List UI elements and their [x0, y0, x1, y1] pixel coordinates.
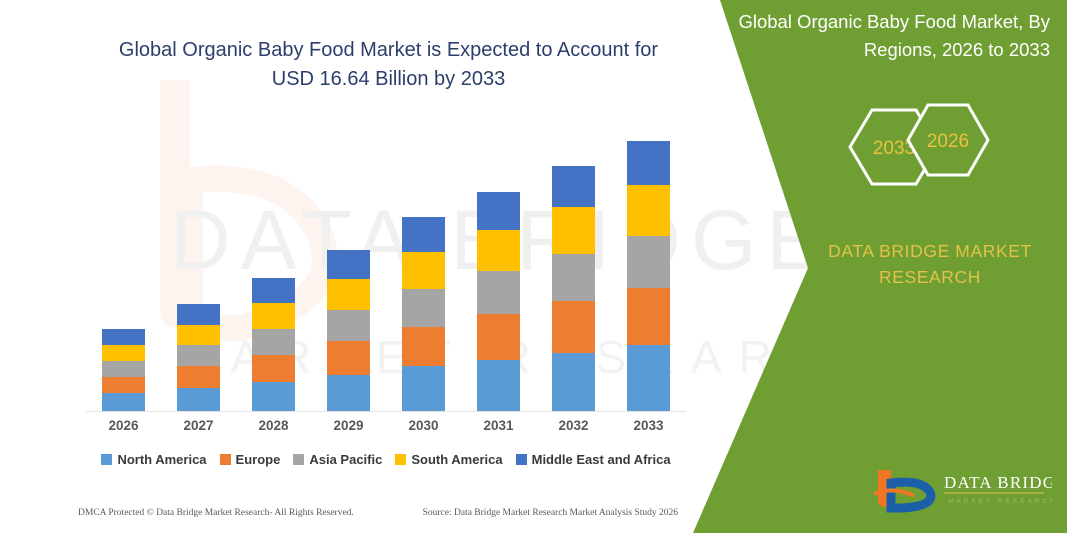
bar-segment [402, 252, 445, 289]
panel-brand-line2: RESEARCH [800, 264, 1060, 290]
bar-segment [252, 382, 295, 412]
footer-bar: DMCA Protected © Data Bridge Market Rese… [78, 508, 678, 518]
bar-segment [102, 361, 145, 377]
legend-swatch [101, 454, 112, 465]
x-axis-tick-label: 2032 [542, 418, 606, 433]
bar-segment [177, 304, 220, 325]
bar-segment [477, 314, 520, 360]
chart-plot-area [86, 119, 686, 412]
logo-tagline: MARKET RESEARCH [948, 498, 1052, 505]
x-axis-tick-label: 2029 [317, 418, 381, 433]
legend-item[interactable]: North America [101, 452, 206, 467]
bar-segment [177, 388, 220, 412]
bar-segment [177, 366, 220, 388]
panel-brand-line1: DATA BRIDGE MARKET [800, 238, 1060, 264]
legend-swatch [220, 454, 231, 465]
chart-legend: North AmericaEuropeAsia PacificSouth Ame… [86, 452, 686, 467]
bar-segment [252, 278, 295, 303]
legend-swatch [293, 454, 304, 465]
bar-segment [327, 279, 370, 310]
bar-segment [402, 366, 445, 412]
bar-segment [327, 375, 370, 412]
x-axis-labels: 20262027202820292030203120322033 [86, 418, 686, 433]
bar-segment [552, 301, 595, 353]
legend-label: South America [411, 452, 502, 467]
bar-segment [402, 289, 445, 326]
stacked-bar-chart [86, 118, 686, 412]
footer-source: Source: Data Bridge Market Research Mark… [423, 508, 678, 518]
legend-label: North America [117, 452, 206, 467]
legend-item[interactable]: Europe [220, 452, 281, 467]
legend-swatch [395, 454, 406, 465]
bar-segment [252, 329, 295, 355]
legend-swatch [516, 454, 527, 465]
logo-name: DATA BRIDGE [944, 473, 1052, 492]
hexagon-badges: 2033 2026 [820, 92, 1020, 207]
x-axis-tick-label: 2026 [92, 418, 156, 433]
legend-label: Asia Pacific [309, 452, 382, 467]
bar-segment [627, 345, 670, 412]
bar-segment [627, 185, 670, 236]
bar-segment [402, 217, 445, 252]
legend-label: Europe [236, 452, 281, 467]
x-axis-tick-label: 2033 [617, 418, 681, 433]
bar-segment [552, 166, 595, 207]
footer-copyright: DMCA Protected © Data Bridge Market Rese… [78, 508, 354, 518]
panel-brand: DATA BRIDGE MARKET RESEARCH [800, 238, 1060, 291]
bar-column [167, 304, 231, 412]
bar-column [617, 141, 681, 412]
bar-segment [552, 207, 595, 254]
bar-column [317, 250, 381, 412]
bar-segment [552, 353, 595, 412]
bar-segment [327, 250, 370, 279]
bar-column [242, 278, 306, 412]
bar-segment [627, 288, 670, 345]
bar-column [92, 329, 156, 412]
x-axis-tick-label: 2031 [467, 418, 531, 433]
bar-segment [477, 192, 520, 229]
x-axis-tick-label: 2030 [392, 418, 456, 433]
legend-item[interactable]: Middle East and Africa [516, 452, 671, 467]
bar-column [392, 217, 456, 412]
legend-label: Middle East and Africa [532, 452, 671, 467]
infographic-canvas: DATA BRIDGE MARKET RESEARCH Global Organ… [0, 0, 1067, 533]
dbmr-logo: DATA BRIDGE MARKET RESEARCH [872, 466, 1052, 514]
bar-segment [252, 303, 295, 329]
bar-column [467, 192, 531, 412]
bar-segment [177, 345, 220, 366]
bar-segment [102, 393, 145, 412]
bar-segment [477, 230, 520, 272]
bar-segment [177, 325, 220, 346]
hexagon-2026-label: 2026 [927, 131, 969, 152]
x-axis-line [86, 411, 686, 412]
bar-segment [102, 377, 145, 394]
bar-segment [252, 355, 295, 382]
page-title: Global Organic Baby Food Market is Expec… [96, 36, 681, 94]
bar-segment [402, 327, 445, 367]
x-axis-tick-label: 2027 [167, 418, 231, 433]
legend-item[interactable]: Asia Pacific [293, 452, 382, 467]
bar-segment [627, 236, 670, 288]
bar-segment [327, 341, 370, 374]
panel-title: Global Organic Baby Food Market, By Regi… [735, 8, 1050, 64]
x-axis-tick-label: 2028 [242, 418, 306, 433]
bar-segment [102, 329, 145, 345]
bar-segment [327, 310, 370, 341]
bar-segment [552, 254, 595, 301]
bar-segment [477, 360, 520, 412]
bar-column [542, 166, 606, 412]
bar-segment [102, 345, 145, 361]
legend-item[interactable]: South America [395, 452, 502, 467]
bar-segment [477, 271, 520, 314]
bar-segment [627, 141, 670, 185]
